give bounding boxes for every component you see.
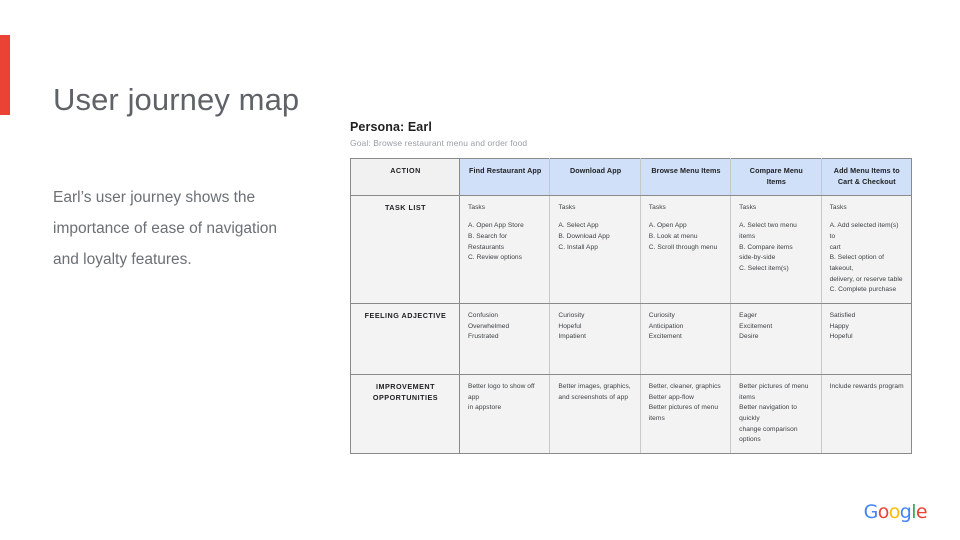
cell-line: Better logo to show off app — [468, 382, 542, 403]
column-header-find-restaurant-app: Find Restaurant App — [460, 159, 550, 196]
cell-line: Happy — [830, 322, 904, 333]
logo-letter-1: o — [878, 501, 889, 523]
cell-line: A. Add selected item(s) to — [830, 221, 904, 242]
cell-content: Better logo to show off appin appstore — [468, 382, 542, 414]
google-logo: Google — [864, 503, 927, 522]
cell-line: Better pictures of menu — [739, 382, 813, 393]
tasks-label: Tasks — [468, 203, 542, 214]
cell-content: Include rewards program — [830, 382, 904, 393]
cell-improvement-4: Include rewards program — [821, 374, 911, 453]
cell-feeling-3: EagerExcitementDesire — [731, 303, 821, 374]
cell-line: Better pictures of menu — [649, 403, 723, 414]
table-row-feeling-adjective: FEELING ADJECTIVE ConfusionOverwhelmedFr… — [351, 303, 912, 374]
cell-line: Eager — [739, 311, 813, 322]
cell-line: A. Select App — [558, 221, 632, 232]
column-header-browse-menu-items: Browse Menu Items — [640, 159, 730, 196]
cell-line: A. Select two menu items — [739, 221, 813, 242]
cell-line: Curiosity — [649, 311, 723, 322]
journey-map-container: Persona: Earl Goal: Browse restaurant me… — [350, 120, 912, 454]
cell-line: side-by-side — [739, 253, 813, 264]
cell-line: Better navigation to quickly — [739, 403, 813, 424]
cell-line: C. Install App — [558, 243, 632, 254]
column-header-compare-menu-items: Compare Menu Items — [731, 159, 821, 196]
cell-line: C. Review options — [468, 253, 542, 264]
cell-task-list-0: TasksA. Open App StoreB. Search for Rest… — [460, 195, 550, 303]
row-label-improvement-opportunities: IMPROVEMENT OPPORTUNITIES — [351, 374, 460, 453]
cell-feeling-0: ConfusionOverwhelmedFrustrated — [460, 303, 550, 374]
cell-feeling-2: CuriosityAnticipationExcitement — [640, 303, 730, 374]
cell-line: A. Open App Store — [468, 221, 542, 232]
cell-line: Impatient — [558, 332, 632, 343]
cell-improvement-3: Better pictures of menuitemsBetter navig… — [731, 374, 821, 453]
cell-line: Curiosity — [558, 311, 632, 322]
cell-line: and screenshots of app — [558, 393, 632, 404]
cell-line: Excitement — [739, 322, 813, 333]
cell-improvement-0: Better logo to show off appin appstore — [460, 374, 550, 453]
tasks-label: Tasks — [649, 203, 723, 214]
cell-line: Overwhelmed — [468, 322, 542, 333]
cell-line: Better images, graphics, — [558, 382, 632, 393]
cell-line: Hopeful — [830, 332, 904, 343]
cell-line: C. Complete purchase — [830, 285, 904, 296]
cell-line: Hopeful — [558, 322, 632, 333]
cell-content: Better pictures of menuitemsBetter navig… — [739, 382, 813, 446]
cell-line: C. Select item(s) — [739, 264, 813, 275]
cell-content: TasksA. Open AppB. Look at menuC. Scroll… — [649, 203, 723, 254]
cell-line: Excitement — [649, 332, 723, 343]
cell-content: CuriosityHopefulImpatient — [558, 311, 632, 343]
cell-line: Better app-flow — [649, 393, 723, 404]
cell-task-list-4: TasksA. Add selected item(s) tocartB. Se… — [821, 195, 911, 303]
persona-goal: Goal: Browse restaurant menu and order f… — [350, 138, 912, 148]
cell-line: change comparison options — [739, 425, 813, 446]
cell-line: Include rewards program — [830, 382, 904, 393]
cell-task-list-2: TasksA. Open AppB. Look at menuC. Scroll… — [640, 195, 730, 303]
cell-content: TasksA. Select AppB. Download AppC. Inst… — [558, 203, 632, 254]
cell-content: Better, cleaner, graphicsBetter app-flow… — [649, 382, 723, 425]
logo-letter-5: e — [916, 501, 927, 523]
cell-task-list-1: TasksA. Select AppB. Download AppC. Inst… — [550, 195, 640, 303]
cell-line: items — [739, 393, 813, 404]
tasks-label: Tasks — [558, 203, 632, 214]
cell-content: SatisfiedHappyHopeful — [830, 311, 904, 343]
red-accent-bar — [0, 35, 10, 115]
cell-line: Anticipation — [649, 322, 723, 333]
cell-line: in appstore — [468, 403, 542, 414]
column-header-add-menu-items-to-cart-checkout: Add Menu Items to Cart & Checkout — [821, 159, 911, 196]
logo-letter-0: G — [864, 501, 878, 523]
cell-content: ConfusionOverwhelmedFrustrated — [468, 311, 542, 343]
journey-map-table: ACTION Find Restaurant App Download App … — [350, 158, 912, 454]
tasks-label: Tasks — [739, 203, 813, 214]
cell-line: C. Scroll through menu — [649, 243, 723, 254]
cell-feeling-4: SatisfiedHappyHopeful — [821, 303, 911, 374]
cell-improvement-1: Better images, graphics,and screenshots … — [550, 374, 640, 453]
cell-line: B. Look at menu — [649, 232, 723, 243]
cell-content: TasksA. Select two menu itemsB. Compare … — [739, 203, 813, 275]
cell-line: Better, cleaner, graphics — [649, 382, 723, 393]
persona-name: Persona: Earl — [350, 120, 912, 134]
cell-line: Confusion — [468, 311, 542, 322]
cell-line: cart — [830, 243, 904, 254]
cell-line: B. Compare items — [739, 243, 813, 254]
cell-content: TasksA. Add selected item(s) tocartB. Se… — [830, 203, 904, 296]
column-header-download-app: Download App — [550, 159, 640, 196]
cell-line: A. Open App — [649, 221, 723, 232]
row-label-feeling-adjective: FEELING ADJECTIVE — [351, 303, 460, 374]
tasks-label: Tasks — [830, 203, 904, 214]
table-row-improvement-opportunities: IMPROVEMENT OPPORTUNITIES Better logo to… — [351, 374, 912, 453]
cell-improvement-2: Better, cleaner, graphicsBetter app-flow… — [640, 374, 730, 453]
row-label-task-list: TASK LIST — [351, 195, 460, 303]
cell-feeling-1: CuriosityHopefulImpatient — [550, 303, 640, 374]
row-label-action: ACTION — [351, 159, 460, 196]
cell-line: B. Select option of takeout, — [830, 253, 904, 274]
cell-line: delivery, or reserve table — [830, 275, 904, 286]
cell-task-list-3: TasksA. Select two menu itemsB. Compare … — [731, 195, 821, 303]
cell-content: TasksA. Open App StoreB. Search for Rest… — [468, 203, 542, 264]
cell-line: Satisfied — [830, 311, 904, 322]
cell-content: Better images, graphics,and screenshots … — [558, 382, 632, 403]
cell-content: EagerExcitementDesire — [739, 311, 813, 343]
cell-line: B. Search for Restaurants — [468, 232, 542, 253]
cell-line: Frustrated — [468, 332, 542, 343]
logo-letter-2: o — [889, 501, 900, 523]
page-title: User journey map — [53, 81, 299, 118]
cell-content: CuriosityAnticipationExcitement — [649, 311, 723, 343]
table-row-task-list: TASK LIST TasksA. Open App StoreB. Searc… — [351, 195, 912, 303]
logo-letter-3: g — [900, 501, 911, 523]
cell-line: items — [649, 414, 723, 425]
table-header-row: ACTION Find Restaurant App Download App … — [351, 159, 912, 196]
cell-line: B. Download App — [558, 232, 632, 243]
cell-line: Desire — [739, 332, 813, 343]
slide-body-text: Earl’s user journey shows the importance… — [53, 182, 298, 275]
